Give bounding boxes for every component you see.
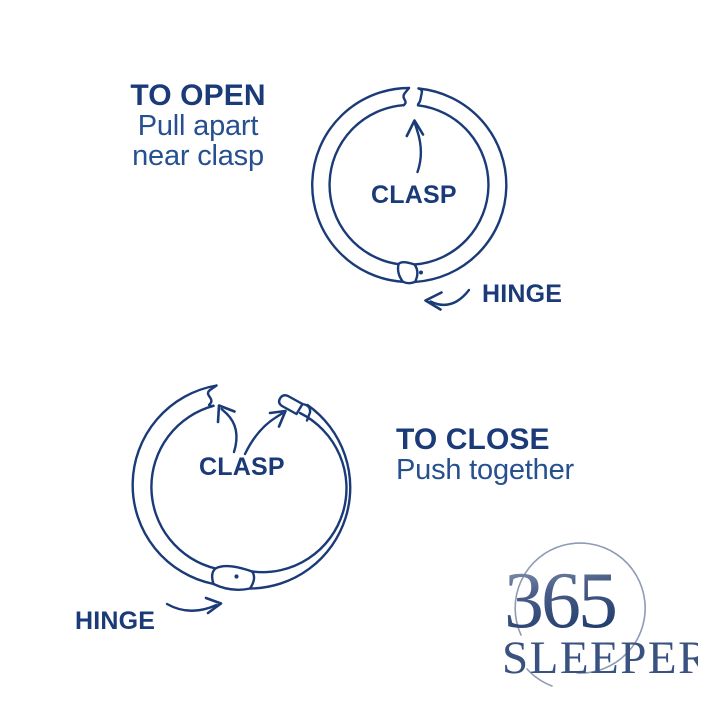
to-close-heading: TO CLOSE xyxy=(396,424,574,455)
top-ring-clasp-notch xyxy=(404,88,410,105)
bottom-ring-hinge-arrow xyxy=(167,604,217,611)
bottom-ring-right-inner xyxy=(252,413,346,572)
to-close-instruction-block: TO CLOSE Push together xyxy=(396,424,574,485)
brand-logo-artwork: 365 SLEEPERS xyxy=(498,545,698,705)
to-open-line-1: Pull apart xyxy=(113,111,283,141)
bottom-ring-hinge-label: HINGE xyxy=(75,607,155,636)
instruction-graphic: TO OPEN Pull apart near clasp TO CLOSE P… xyxy=(0,0,720,720)
top-ring-hinge-lens xyxy=(398,262,417,283)
top-ring-clasp-notch-right xyxy=(418,88,422,105)
bottom-ring-hinge-pivot-dot xyxy=(234,574,238,578)
bottom-ring-hinge-lens xyxy=(212,566,254,590)
top-ring-hinge-pivot-dot xyxy=(419,271,423,275)
bottom-ring-clasp-arrow-right xyxy=(245,414,282,455)
to-open-line-2: near clasp xyxy=(113,141,283,171)
top-ring-clasp-arrowhead xyxy=(407,121,423,137)
bottom-ring-clasp-arrow-left xyxy=(222,409,237,452)
bottom-ring-right-clasp-shoulder xyxy=(303,404,311,421)
to-open-instruction-block: TO OPEN Pull apart near clasp xyxy=(113,80,283,172)
bottom-ring-left-outer xyxy=(133,386,217,585)
logo-sleepers-wordmark: SLEEPERS xyxy=(502,632,698,684)
to-open-heading: TO OPEN xyxy=(113,80,283,111)
top-ring-hinge-arrow xyxy=(431,290,470,305)
top-ring-clasp-label: CLASP xyxy=(371,181,457,210)
bottom-ring-left-clasp-tip xyxy=(208,386,217,406)
top-ring-hinge-label: HINGE xyxy=(482,280,562,309)
brand-logo: 365 SLEEPERS xyxy=(498,545,698,705)
bottom-ring-clasp-label: CLASP xyxy=(199,453,285,482)
top-ring-hinge-arrowhead xyxy=(426,293,442,310)
bottom-ring-diagram xyxy=(133,386,351,614)
bottom-ring-left-inner xyxy=(151,406,215,569)
bottom-ring-right-outer xyxy=(250,405,350,589)
to-close-line-1: Push together xyxy=(396,455,574,485)
